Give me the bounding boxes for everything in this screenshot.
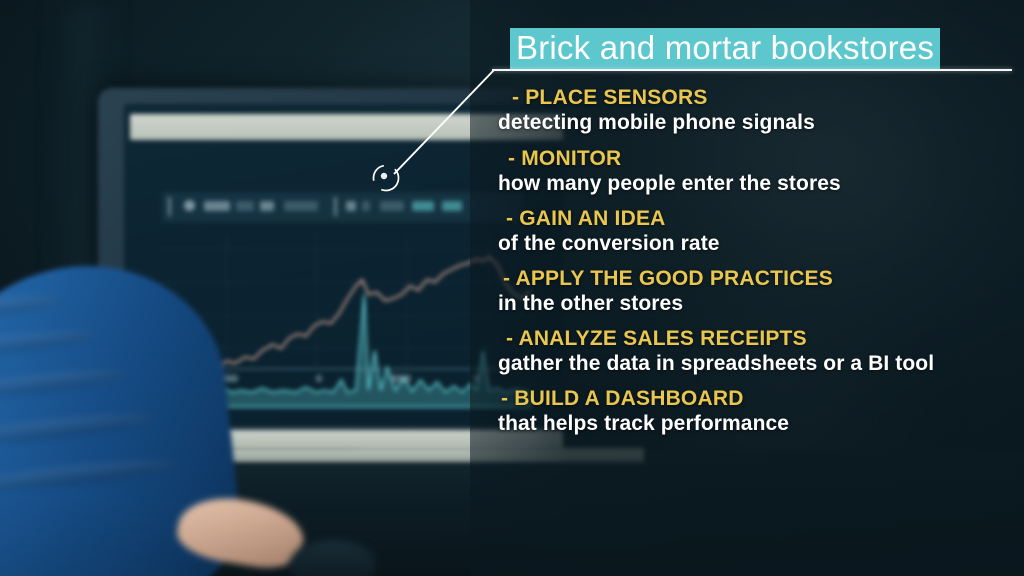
- x-axis-tick-label: [316, 375, 322, 382]
- bullet-heading: - MONITOR: [498, 147, 1018, 171]
- bullet-heading: - APPLY THE GOOD PRACTICES: [498, 267, 1018, 291]
- bullet-subtext: how many people enter the stores: [498, 172, 1018, 196]
- bullet-heading: - PLACE SENSORS: [498, 86, 1018, 110]
- toolbar-chip-active: [442, 201, 462, 211]
- x-axis-tick-label: [391, 375, 411, 382]
- toolbar-separator: [168, 197, 171, 216]
- title-underline-rule: [492, 69, 1012, 71]
- slide-canvas: Brick and mortar bookstores - PLACE SENS…: [0, 0, 1024, 576]
- bullet-item-analyze-sales-receipts: - ANALYZE SALES RECEIPTS gather the data…: [498, 327, 1018, 376]
- bullet-item-build-a-dashboard: - BUILD A DASHBOARD that helps track per…: [498, 387, 1018, 436]
- toolbar-separator: [334, 197, 337, 216]
- bullet-heading: - BUILD A DASHBOARD: [498, 387, 1018, 411]
- bullet-list: - PLACE SENSORS detecting mobile phone s…: [498, 86, 1018, 447]
- screen-toolbar: [162, 192, 523, 222]
- bullet-item-monitor: - MONITOR how many people enter the stor…: [498, 147, 1018, 196]
- bullet-subtext: detecting mobile phone signals: [498, 111, 1018, 135]
- x-axis-tick-label: [473, 375, 479, 382]
- bullet-item-gain-an-idea: - GAIN AN IDEA of the conversion rate: [498, 207, 1018, 256]
- bullet-subtext: in the other stores: [498, 292, 1018, 316]
- toolbar-chip: [362, 201, 370, 211]
- toolbar-chip: [346, 201, 356, 211]
- toolbar-chip: [380, 201, 404, 211]
- toolbar-chip-active: [412, 201, 434, 211]
- bullet-subtext: gather the data in spreadsheets or a BI …: [498, 352, 1018, 376]
- toolbar-chip: [260, 201, 274, 211]
- bullet-item-place-sensors: - PLACE SENSORS detecting mobile phone s…: [498, 86, 1018, 135]
- bullet-item-apply-good-practices: - APPLY THE GOOD PRACTICES in the other …: [498, 267, 1018, 316]
- toolbar-dot: [184, 200, 195, 211]
- toolbar-chip: [204, 201, 230, 211]
- bullet-subtext: that helps track performance: [498, 412, 1018, 436]
- bullet-subtext: of the conversion rate: [498, 232, 1018, 256]
- slide-title-text: Brick and mortar bookstores: [510, 28, 940, 69]
- toolbar-chip: [284, 201, 318, 211]
- bullet-heading: - GAIN AN IDEA: [498, 207, 1018, 231]
- toolbar-chip: [236, 201, 254, 211]
- slide-title: Brick and mortar bookstores: [510, 28, 940, 68]
- bullet-heading: - ANALYZE SALES RECEIPTS: [498, 327, 1018, 351]
